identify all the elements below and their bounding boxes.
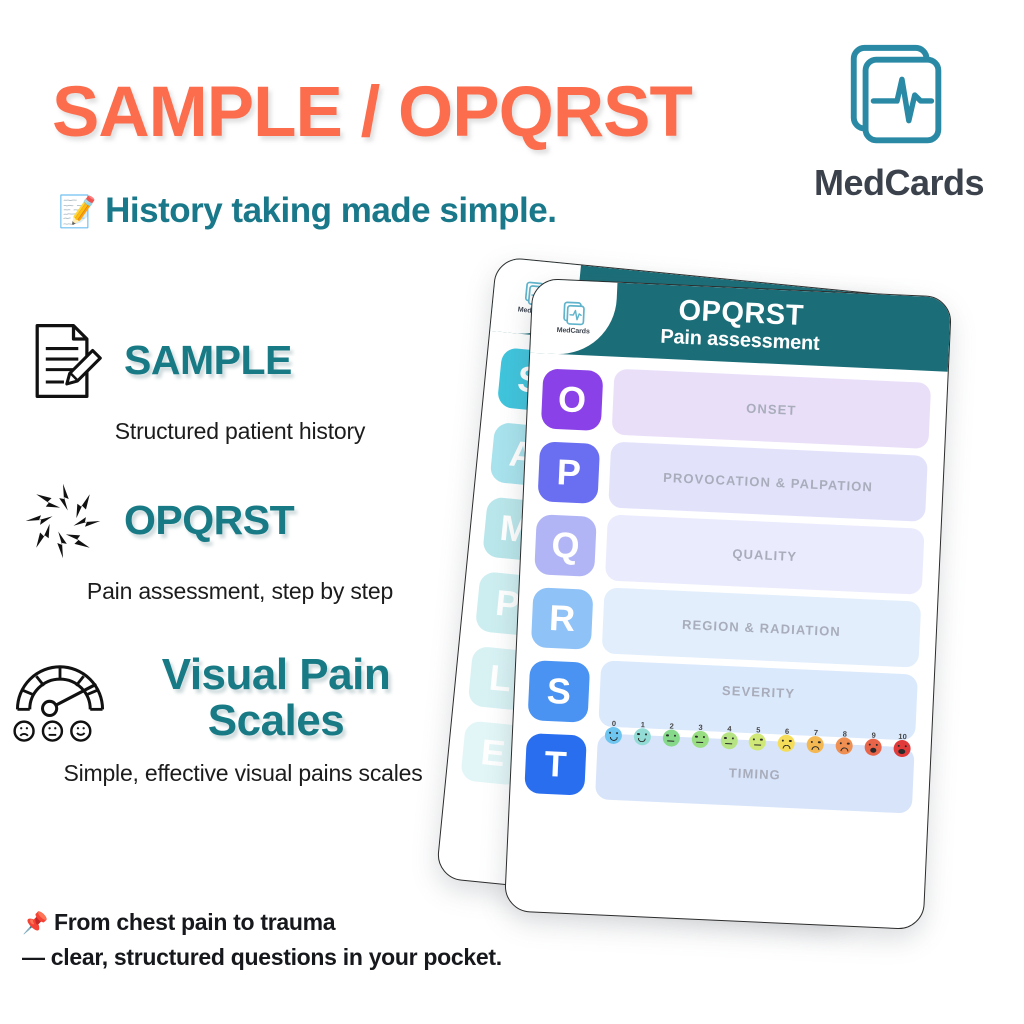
medcards-mini-icon xyxy=(560,300,587,327)
memo-icon: 📝 xyxy=(58,193,96,230)
letter-tile-r: R xyxy=(531,587,594,650)
brand-logo: MedCards xyxy=(808,38,990,204)
face-icon xyxy=(893,740,911,758)
letter-tile-q: Q xyxy=(534,514,597,577)
pain-burst-icon xyxy=(20,478,106,564)
feature-description: Pain assessment, step by step xyxy=(20,578,460,605)
document-pencil-icon xyxy=(20,318,106,404)
card-logo-notch: MedCards xyxy=(530,279,617,357)
face-icon xyxy=(807,736,825,754)
face-icon xyxy=(720,732,738,750)
face-scale-number: 2 xyxy=(669,722,674,730)
letter-tile-t: T xyxy=(524,733,587,796)
face-scale-number: 4 xyxy=(727,725,732,733)
pushpin-icon: 📌 xyxy=(22,912,48,935)
face-scale-item[interactable]: 1 xyxy=(633,720,651,745)
row-label: QUALITY xyxy=(732,546,797,564)
row-field-region[interactable]: REGION & RADIATION xyxy=(602,587,922,667)
face-scale-item[interactable]: 5 xyxy=(749,726,767,751)
face-scale-item[interactable]: 10 xyxy=(893,732,911,757)
row-field-quality[interactable]: QUALITY xyxy=(605,514,925,594)
card-row-quality[interactable]: Q QUALITY xyxy=(534,511,925,595)
face-scale-number: 9 xyxy=(871,731,876,739)
footer-line-2: — clear, structured questions in your po… xyxy=(22,944,502,970)
face-scale-number: 8 xyxy=(843,730,848,738)
medcards-stacked-cards-ecg-icon xyxy=(808,38,990,160)
letter-tile-s: S xyxy=(528,660,591,723)
card-stack: MedCards SAMPLE S A M P L xyxy=(455,250,1015,950)
page-title: SAMPLE / OPQRST xyxy=(52,72,692,153)
letter-tile-p: P xyxy=(537,441,600,504)
footer-line-1: From chest pain to trauma xyxy=(54,909,335,935)
face-scale-number: 3 xyxy=(698,723,703,731)
feature-title: Visual Pain Scales xyxy=(126,652,426,744)
row-field-severity[interactable]: SEVERITY 012345678910 xyxy=(598,660,918,740)
card-row-onset[interactable]: O ONSET xyxy=(541,365,932,449)
card-row-region[interactable]: R REGION & RADIATION xyxy=(531,584,922,668)
feature-visual-pain-scales: Visual Pain Scales Simple, effective vis… xyxy=(8,650,478,787)
face-scale-number: 10 xyxy=(898,732,907,740)
face-icon xyxy=(633,728,651,746)
row-field-provocation[interactable]: PROVOCATION & PALPATION xyxy=(608,442,928,522)
card-row-severity[interactable]: S SEVERITY 012345678910 xyxy=(527,657,918,741)
row-label: REGION & RADIATION xyxy=(682,616,841,638)
feature-title: OPQRST xyxy=(124,499,294,542)
row-label: ONSET xyxy=(746,400,797,417)
feature-sample: SAMPLE Structured patient history xyxy=(20,318,460,445)
page-subtitle: 📝 History taking made simple. xyxy=(58,191,556,231)
feature-opqrst: OPQRST Pain assessment, step by step xyxy=(20,478,460,605)
row-label: SEVERITY xyxy=(722,682,796,700)
letter-tile-o: O xyxy=(541,368,604,431)
face-icon xyxy=(835,737,853,755)
page-subtitle-text: History taking made simple. xyxy=(105,191,556,231)
feature-description: Simple, effective visual pains scales xyxy=(8,760,478,787)
opqrst-card-title: OPQRST xyxy=(678,295,805,331)
face-scale-item[interactable]: 3 xyxy=(691,723,709,748)
row-field-onset[interactable]: ONSET xyxy=(612,369,932,449)
card-row-provocation[interactable]: P PROVOCATION & PALPATION xyxy=(537,438,928,522)
feature-title: SAMPLE xyxy=(124,339,292,382)
face-scale-item[interactable]: 9 xyxy=(864,731,882,756)
face-icon xyxy=(778,734,796,752)
opqrst-card-body: O ONSET P PROVOCATION & PALPATION Q QUAL… xyxy=(509,353,947,831)
gauge-faces-icon xyxy=(8,650,112,746)
face-icon xyxy=(605,727,623,745)
face-scale-number: 7 xyxy=(814,729,819,737)
opqrst-card[interactable]: MedCards OPQRST Pain assessment O ONSET … xyxy=(504,278,952,930)
face-icon xyxy=(864,738,882,756)
face-scale-item[interactable]: 7 xyxy=(807,728,825,753)
face-icon xyxy=(749,733,767,751)
face-scale-item[interactable]: 6 xyxy=(778,727,796,752)
row-label: TIMING xyxy=(728,765,781,782)
face-scale-item[interactable]: 8 xyxy=(835,730,853,755)
card-logo-label: MedCards xyxy=(557,327,590,335)
face-scale-item[interactable]: 0 xyxy=(605,719,623,744)
face-scale-number: 0 xyxy=(612,719,617,727)
face-scale-number: 1 xyxy=(641,721,646,729)
brand-name: MedCards xyxy=(808,162,990,204)
face-scale-item[interactable]: 4 xyxy=(720,724,738,749)
face-icon xyxy=(662,729,680,747)
face-icon xyxy=(691,730,709,748)
feature-description: Structured patient history xyxy=(20,418,460,445)
row-label: PROVOCATION & PALPATION xyxy=(663,469,873,494)
face-scale-item[interactable]: 2 xyxy=(662,722,680,747)
